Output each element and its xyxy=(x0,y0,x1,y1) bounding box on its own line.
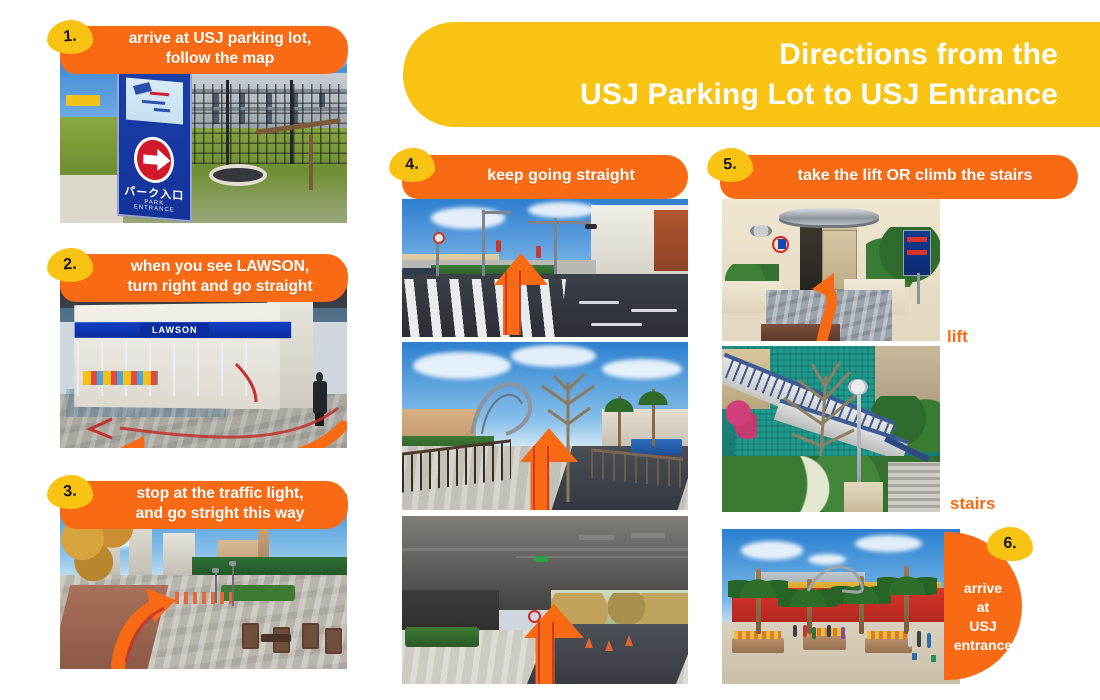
step-1-caption: arrive at USJ parking lot, follow the ma… xyxy=(129,29,312,69)
step-5-number-badge: 5. xyxy=(706,147,754,183)
step-2-caption-line-1: when you see LAWSON, xyxy=(127,257,312,277)
step-3-number-badge: 3. xyxy=(46,474,94,510)
roller-coaster-track xyxy=(402,342,688,510)
step-3-caption-line-1: stop at the traffic light, xyxy=(136,484,305,504)
up-arrow-icon xyxy=(402,199,688,337)
step-6-caption-line-4: entrance xyxy=(954,636,1012,655)
handrail-post xyxy=(309,135,313,190)
step-3-caption-banner: stop at the traffic light, and go strigh… xyxy=(60,481,348,529)
step-2-caption: when you see LAWSON, turn right and go s… xyxy=(127,257,312,297)
arrow-circle xyxy=(135,135,175,185)
step-3-caption: stop at the traffic light, and go strigh… xyxy=(136,484,305,524)
coaster-walkway-photo xyxy=(402,342,688,510)
lift-label: lift xyxy=(947,327,968,347)
step-2-caption-banner: when you see LAWSON, turn right and go s… xyxy=(60,254,348,302)
usj-entrance-plaza-photo xyxy=(722,529,960,684)
curved-up-left-arrow-icon xyxy=(722,199,940,341)
step-6-caption-line-1: arrive xyxy=(954,579,1012,598)
pavement xyxy=(60,175,123,223)
step-5-caption-banner: take the lift OR climb the stairs xyxy=(720,155,1078,199)
step-4-caption-banner: keep going straight xyxy=(402,155,688,199)
lamp-post xyxy=(857,386,861,482)
roller-coaster-track xyxy=(722,529,960,684)
lamp-base xyxy=(844,482,883,512)
step-6-caption-line-3: USJ xyxy=(954,617,1012,636)
step-2-caption-line-2: turn right and go straight xyxy=(127,277,312,297)
crosswalk-photo xyxy=(402,199,688,337)
right-arrow-icon xyxy=(144,154,165,165)
lift-entrance-photo xyxy=(722,199,940,341)
step-1-caption-line-2: follow the map xyxy=(129,49,312,69)
step-5-caption: take the lift OR climb the stairs xyxy=(798,166,1033,186)
poster-canvas: Directions from the USJ Parking Lot to U… xyxy=(0,0,1100,700)
title-line-2: USJ Parking Lot to USJ Entrance xyxy=(580,75,1058,115)
step-6-caption: arrive at USJ entrance xyxy=(954,557,1012,655)
step-2-number-badge: 2. xyxy=(46,247,94,283)
step-6-number-badge: 6. xyxy=(986,526,1033,562)
step-3-caption-line-2: and go stright this way xyxy=(136,504,305,524)
park-entrance-sign: パーク入口 PARK ENTRANCE xyxy=(117,66,192,223)
title-banner: Directions from the USJ Parking Lot to U… xyxy=(403,22,1100,127)
sign-map xyxy=(126,77,183,124)
stairs-label: stairs xyxy=(950,494,995,514)
step-6-caption-line-2: at xyxy=(954,598,1012,617)
up-arrow-icon xyxy=(402,516,688,684)
step-4-caption: keep going straight xyxy=(487,166,635,186)
step-4-number-badge: 4. xyxy=(388,147,436,183)
title-line-1: Directions from the xyxy=(779,35,1058,75)
stairs-photo xyxy=(722,346,940,512)
step-1-caption-banner: arrive at USJ parking lot, follow the ma… xyxy=(60,26,348,74)
step-1-number-badge: 1. xyxy=(46,19,94,55)
slope-sign xyxy=(66,95,100,106)
stair-steps-right xyxy=(888,462,940,512)
step-1-caption-line-1: arrive at USJ parking lot, xyxy=(129,29,312,49)
underpass-photo xyxy=(402,516,688,684)
